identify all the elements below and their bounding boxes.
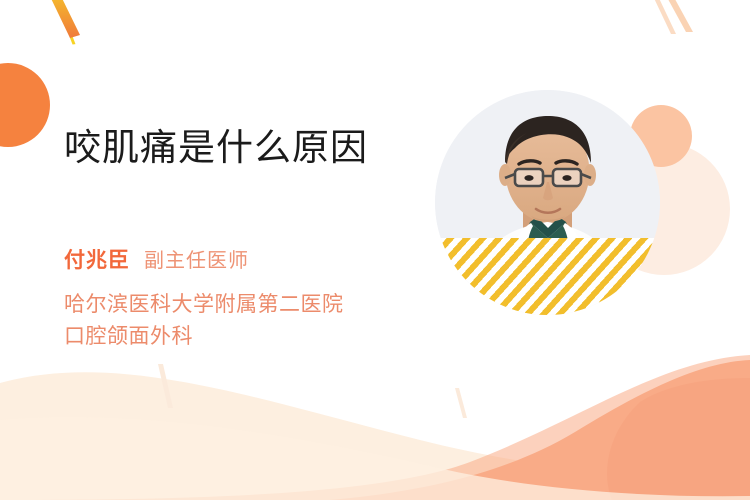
doctor-name: 付兆臣 [64,249,130,272]
wave-salmon-lobe [607,378,750,500]
slash-yellow-thin [53,0,75,46]
slash-peach-b [663,0,693,32]
slash-peach-a [652,0,676,34]
doctor-info-card: 咬肌痛是什么原因 付兆臣副主任医师 哈尔滨医科大学附属第二医院 口腔颌面外科 [0,0,750,500]
doctor-hospital: 哈尔滨医科大学附属第二医院 [64,288,344,318]
wave-cream [0,372,750,500]
slash-cream-bottom-mid [455,388,467,418]
doctor-identity-line: 付兆臣副主任医师 [64,250,249,271]
orange-circle-left [0,63,50,147]
page-title: 咬肌痛是什么原因 [64,117,368,171]
avatar [435,90,660,315]
wave-cream-overlay [0,417,750,500]
doctor-department: 口腔颌面外科 [64,320,193,350]
slash-orange-thick [46,0,80,38]
portrait-cluster [430,85,750,385]
doctor-rank: 副主任医师 [144,250,249,272]
slash-cream-bottom-left [158,364,173,408]
doctor-portrait-illustration [435,90,660,315]
